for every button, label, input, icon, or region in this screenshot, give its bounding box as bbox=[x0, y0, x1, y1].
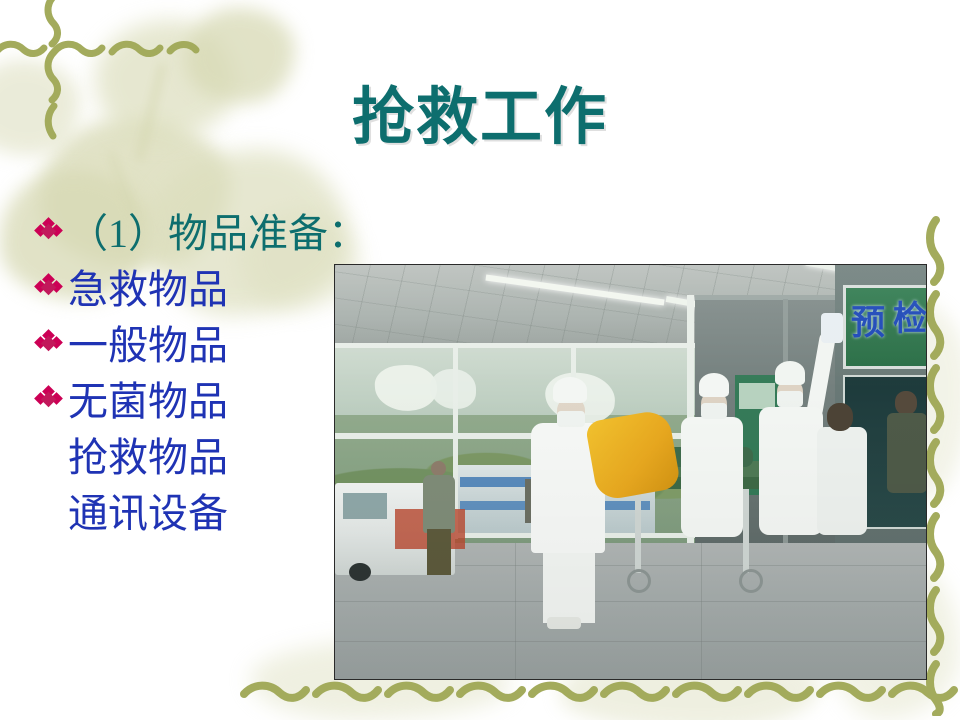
hospital-emergency-photo: 预 检 bbox=[334, 264, 927, 680]
list-item-label: 通讯设备 bbox=[68, 488, 228, 540]
diamond-bullet-icon bbox=[28, 208, 68, 242]
diamond-bullet-icon bbox=[28, 320, 68, 354]
list-item[interactable]: （1）物品准备： bbox=[28, 208, 358, 260]
list-item[interactable]: 通讯设备 bbox=[28, 488, 358, 540]
list-item-label: 抢救物品 bbox=[68, 432, 228, 484]
decorative-wave-horizontal-top bbox=[0, 36, 200, 62]
slide-title: 抢救工作 bbox=[0, 84, 960, 149]
list-item[interactable]: 一般物品 bbox=[28, 320, 358, 372]
list-item-label: 无菌物品 bbox=[68, 376, 228, 428]
presentation-slide: 抢救工作 （1）物品准备： 急救物品 一般物品 无菌物品 bbox=[0, 0, 960, 720]
list-item-label: 急救物品 bbox=[68, 264, 228, 316]
diamond-bullet-icon bbox=[28, 376, 68, 410]
list-item[interactable]: 无菌物品 bbox=[28, 376, 358, 428]
decorative-wave-horizontal-bottom bbox=[240, 678, 960, 706]
diamond-bullet-icon bbox=[28, 264, 68, 298]
list-item[interactable]: 急救物品 bbox=[28, 264, 358, 316]
list-item-label: 一般物品 bbox=[68, 320, 228, 372]
body-text-list: （1）物品准备： 急救物品 一般物品 无菌物品 抢救物品 bbox=[28, 208, 358, 544]
list-item[interactable]: 抢救物品 bbox=[28, 432, 358, 484]
list-item-label: （1）物品准备： bbox=[68, 208, 368, 260]
